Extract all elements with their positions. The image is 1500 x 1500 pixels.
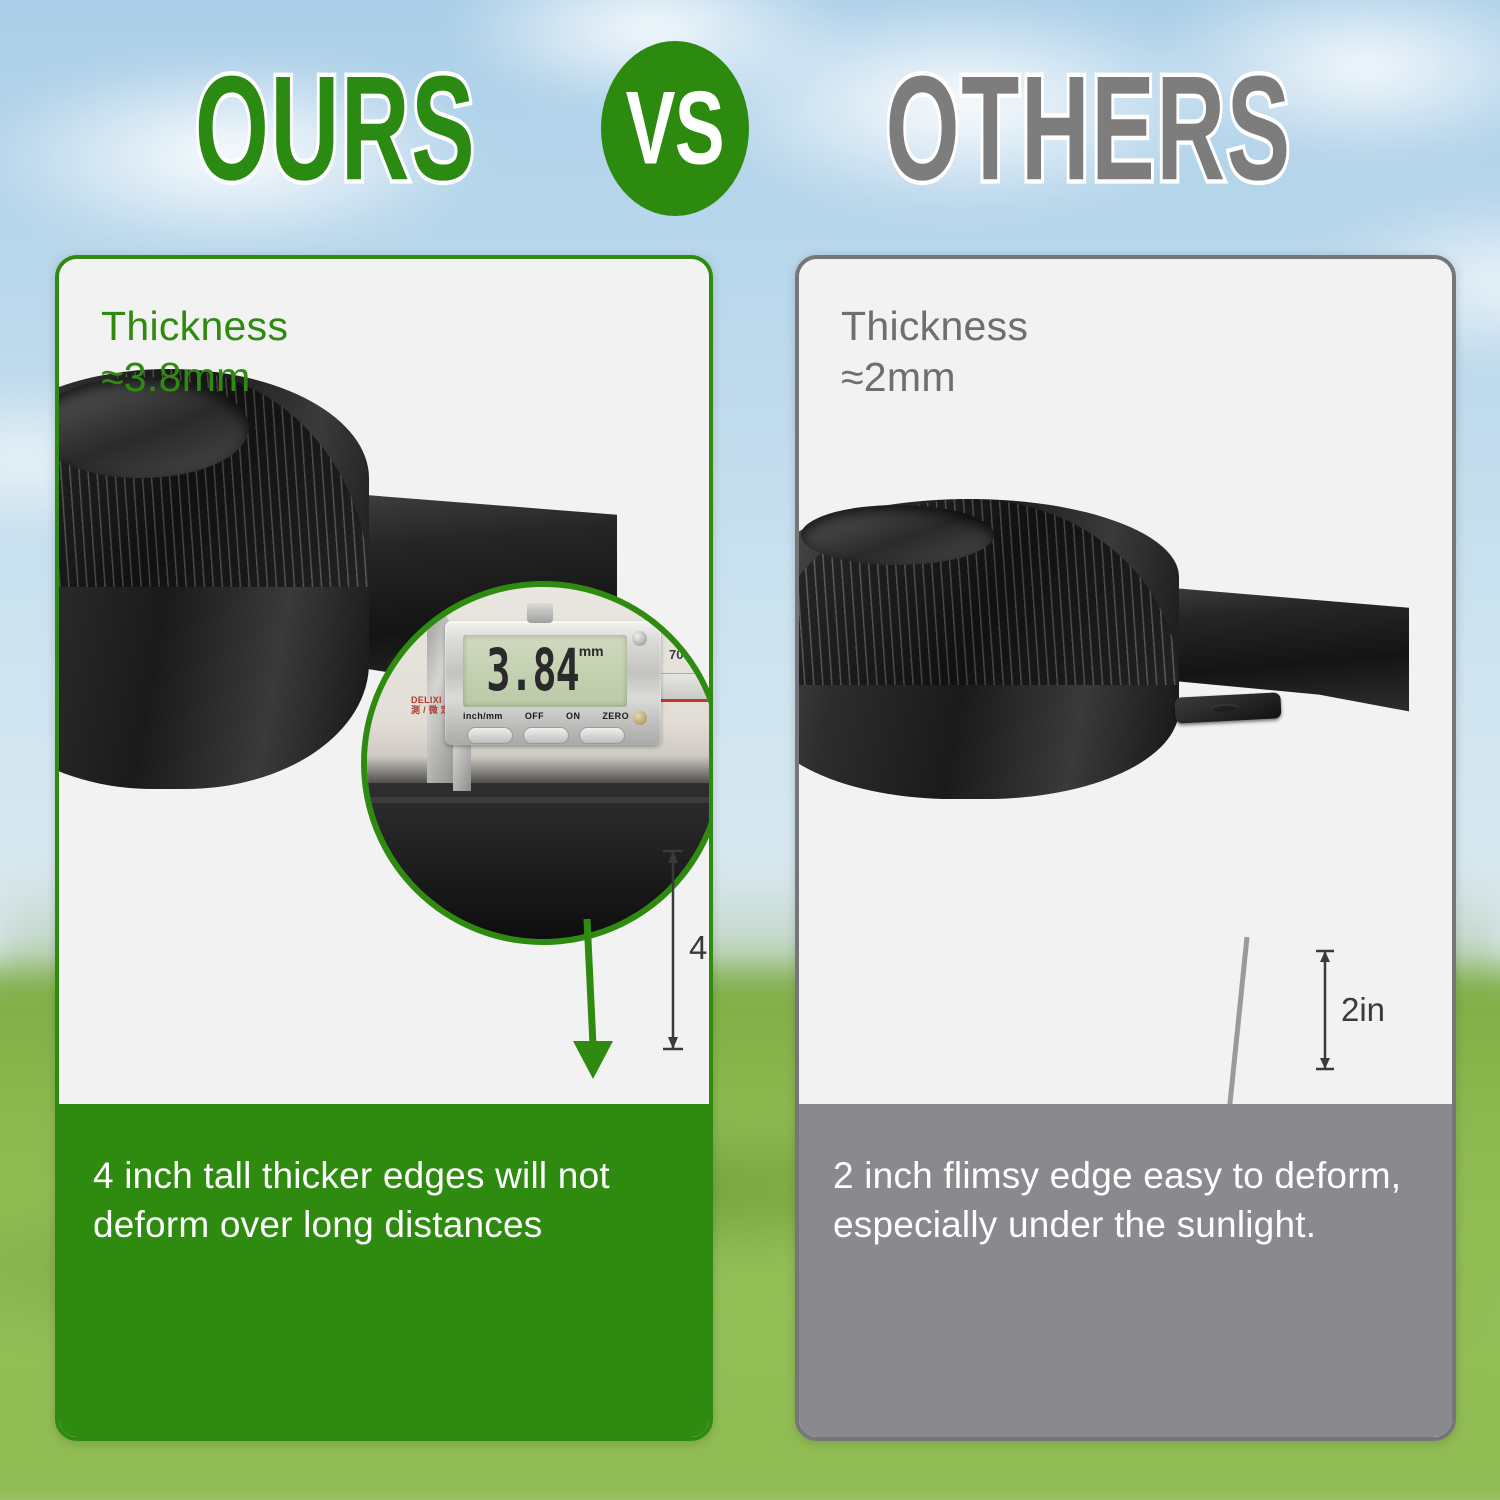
others-edging-coil: [799, 499, 1179, 799]
ours-thickness-title: Thickness: [101, 301, 288, 352]
vs-badge: VS: [601, 41, 749, 216]
others-dimension-callout: 2in: [1307, 945, 1397, 1075]
header-others-label: OTHERS: [885, 54, 1291, 202]
others-footer: 2 inch flimsy edge easy to deform, espec…: [799, 1104, 1452, 1437]
ours-caliper-button: [579, 727, 625, 744]
ours-dimension-label: 4in: [689, 929, 709, 967]
ours-caliper-btn-label: inch/mm: [463, 711, 503, 721]
others-product-edging: [799, 499, 1452, 829]
ours-caliper-btn-label: ON: [566, 711, 580, 721]
panel-ours: Thickness ≈3.8mm: [55, 255, 713, 1441]
header-ours-label: OURS: [195, 54, 476, 202]
ours-dimension-callout: 4in: [655, 845, 709, 1055]
ours-caliper-button: [523, 727, 569, 744]
ours-footer: 4 inch tall thicker edges will not defor…: [59, 1104, 709, 1437]
comparison-header: OURS VS OTHERS: [0, 48, 1500, 208]
ours-caliper-btn-label: ZERO: [602, 711, 629, 721]
others-dimension-label: 2in: [1341, 991, 1385, 1029]
ours-caliper-button: [467, 727, 513, 744]
others-photo-area: Thickness ≈2mm DELIXI 測 / 微 定: [799, 259, 1452, 1104]
ours-caliper-reading: 3.84: [486, 638, 578, 705]
others-footer-text: 2 inch flimsy edge easy to deform, espec…: [833, 1152, 1418, 1250]
others-stake: [1174, 692, 1281, 724]
ours-connector-arrow: [553, 919, 663, 1089]
ours-thickness-callout: Thickness ≈3.8mm: [101, 301, 288, 404]
ours-footer-text: 4 inch tall thicker edges will not defor…: [93, 1152, 675, 1250]
ours-thickness-value: ≈3.8mm: [101, 352, 288, 403]
vs-label: VS: [626, 76, 724, 180]
ours-edging-coil: [59, 369, 369, 789]
others-connector-arrow: [1207, 937, 1317, 1104]
others-thickness-title: Thickness: [841, 301, 1028, 352]
panel-others: Thickness ≈2mm DELIXI 測 / 微 定: [795, 255, 1456, 1441]
others-thickness-value: ≈2mm: [841, 352, 1028, 403]
others-thickness-callout: Thickness ≈2mm: [841, 301, 1028, 404]
ours-photo-area: Thickness ≈3.8mm: [59, 259, 709, 1104]
ours-caliper-unit: mm: [579, 643, 604, 659]
ours-caliper-btn-label: OFF: [525, 711, 544, 721]
